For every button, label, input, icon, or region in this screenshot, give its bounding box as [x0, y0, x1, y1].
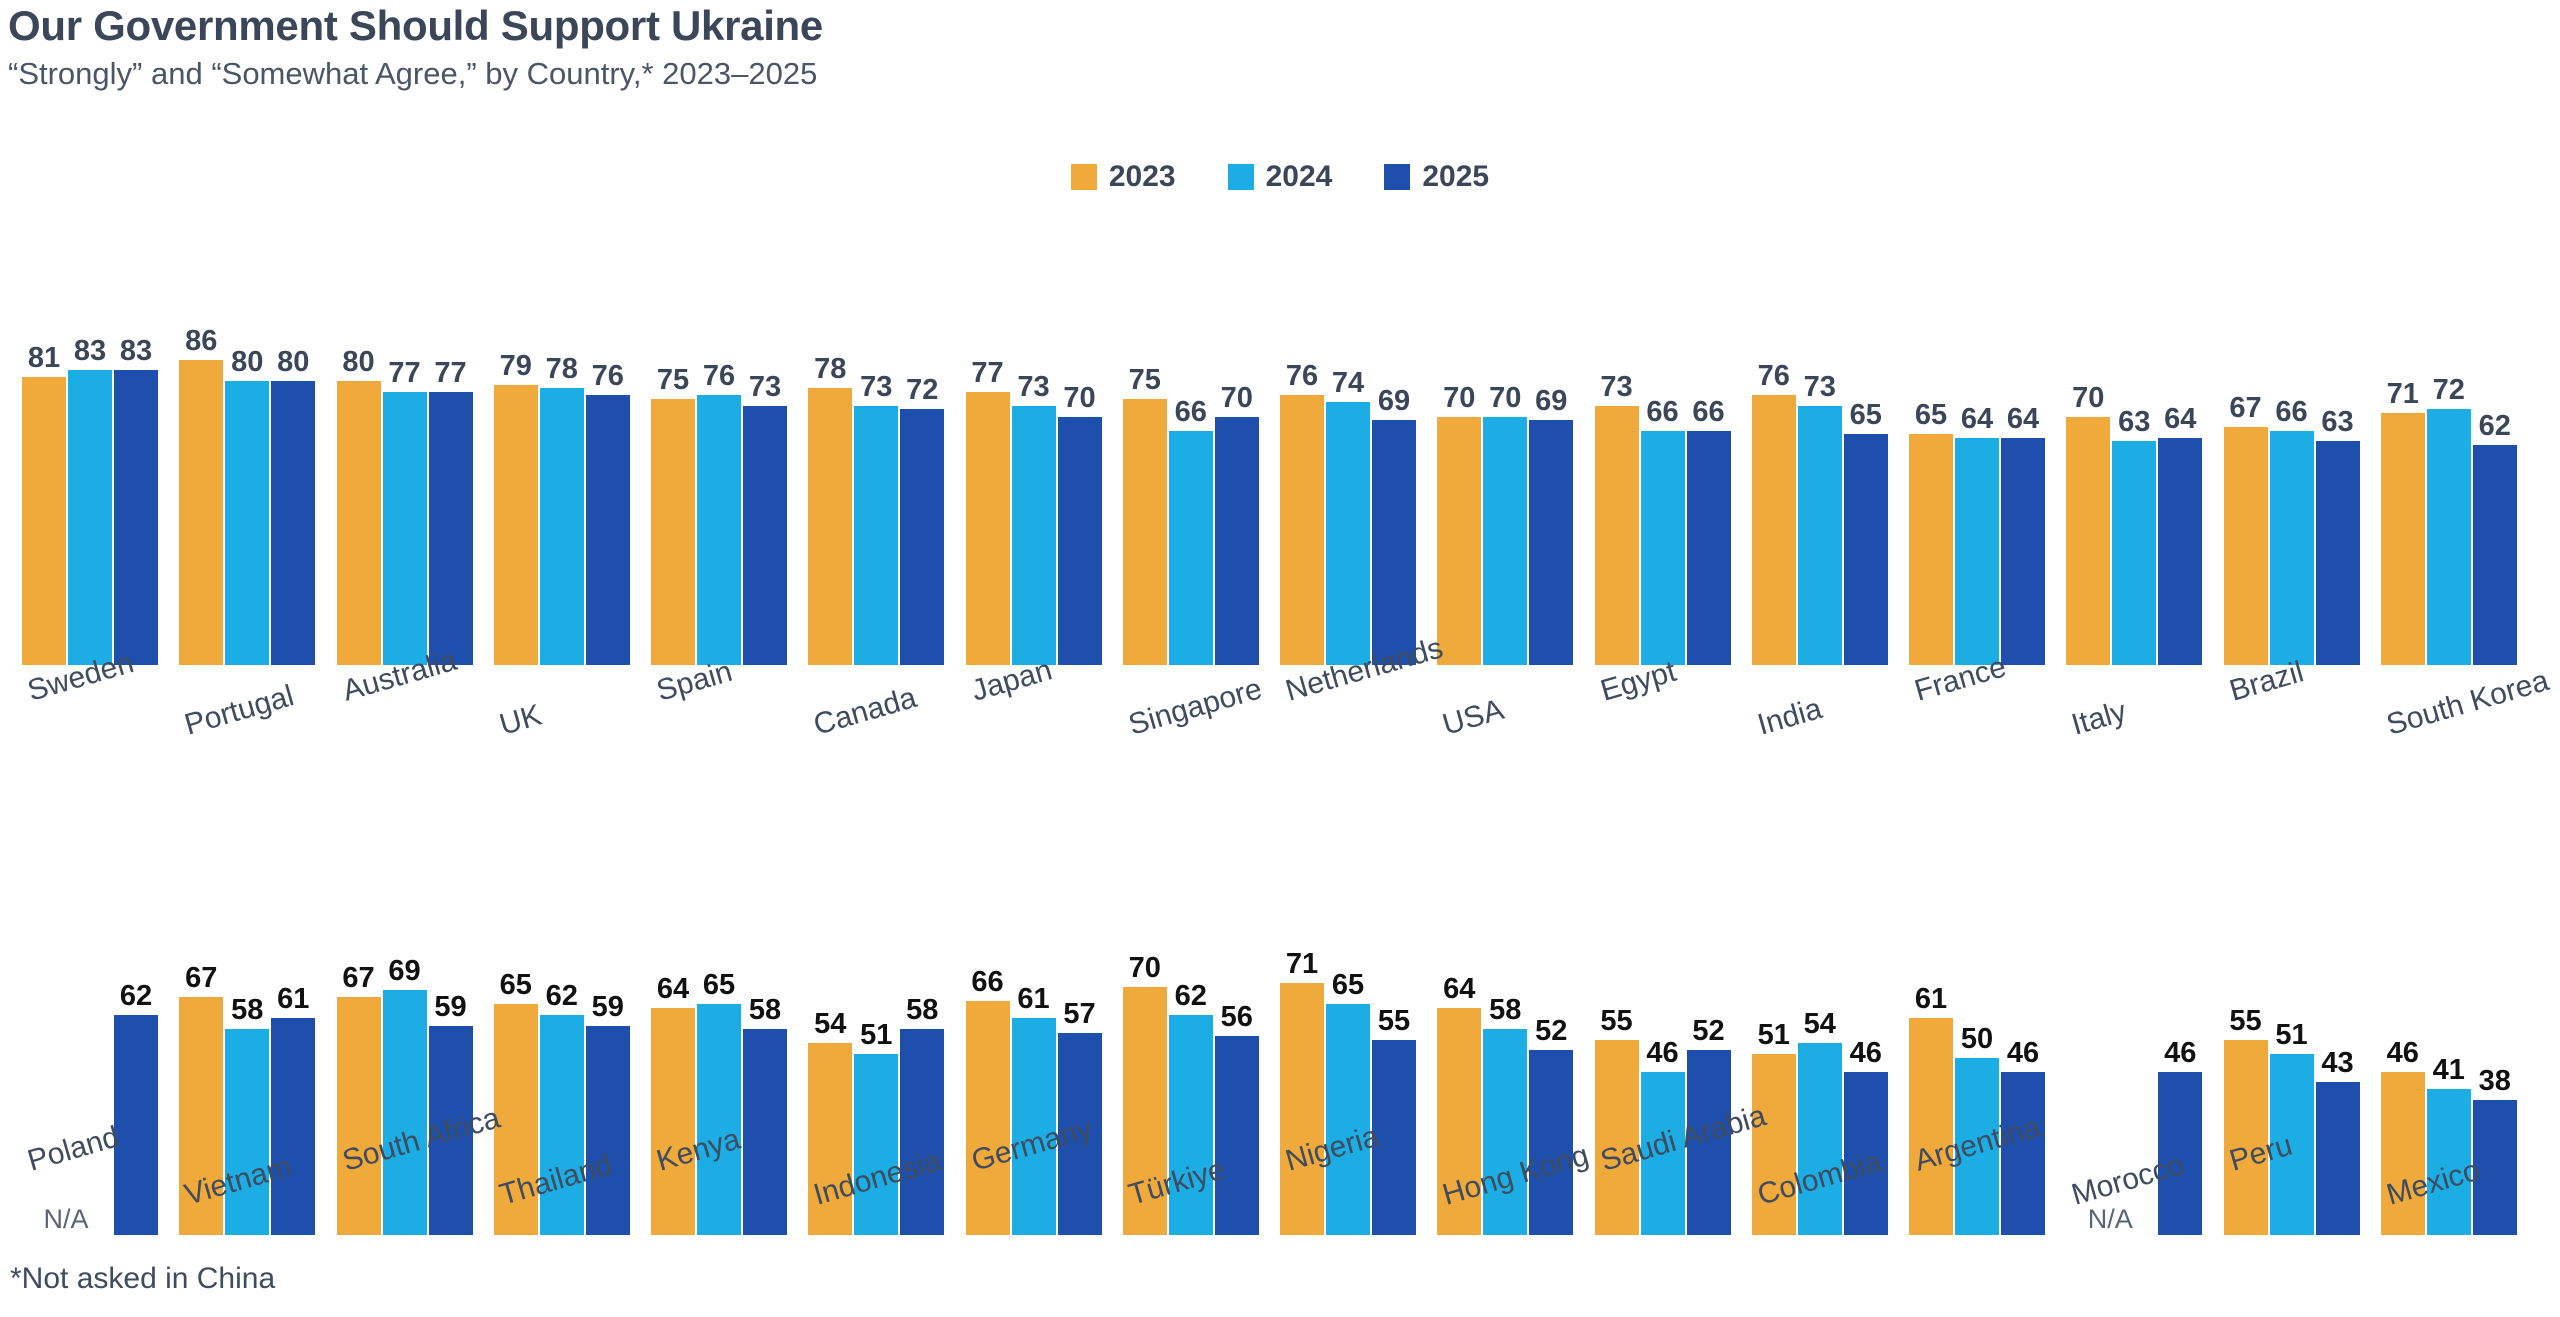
- bar-value-label: 75: [1129, 366, 1161, 399]
- bar-value-label: 77: [971, 359, 1003, 392]
- bar-group: 656464: [1909, 434, 2066, 665]
- category-label-vietnam: Vietnam: [181, 1150, 296, 1213]
- bar-group: 757673: [651, 395, 808, 665]
- bar-value-label: 38: [2479, 1067, 2511, 1100]
- bar-value-label: 46: [1850, 1039, 1882, 1072]
- bar-value-label: 80: [277, 348, 309, 381]
- category-label-cell: Portugal: [179, 676, 336, 786]
- bar-value-label: 71: [2387, 380, 2419, 413]
- bar-slot: 76: [586, 395, 630, 665]
- category-label-cell: Morocco: [2066, 1146, 2223, 1256]
- category-label-singapore: Singapore: [1125, 672, 1266, 742]
- legend-swatch-icon: [1071, 164, 1097, 190]
- bar-value-label: 64: [1961, 405, 1993, 438]
- bar-value-label: 46: [2007, 1039, 2039, 1072]
- bar-value-label: 70: [1063, 384, 1095, 417]
- legend-item-2024[interactable]: 2024: [1228, 160, 1333, 194]
- category-label-cell: Argentina: [1909, 1146, 2066, 1256]
- bar-2024[interactable]: [1798, 406, 1842, 665]
- category-label-cell: UK: [494, 676, 651, 786]
- bar-2023[interactable]: [179, 360, 223, 665]
- legend-label: 2023: [1109, 160, 1176, 194]
- chart-legend: 202320242025: [0, 160, 2560, 194]
- bar-slot: 74: [1326, 402, 1370, 665]
- bar-value-label: 67: [185, 964, 217, 997]
- bar-slot: 64: [2158, 438, 2202, 665]
- bar-2025[interactable]: [586, 395, 630, 665]
- bar-slot: 73: [854, 406, 898, 665]
- bar-slot: 73: [1595, 406, 1639, 665]
- bar-group: 807777: [337, 381, 494, 665]
- bar-slot: 76: [1280, 395, 1324, 665]
- legend-label: 2025: [1422, 160, 1489, 194]
- bar-value-label: 70: [1129, 954, 1161, 987]
- bar-2023[interactable]: [808, 388, 852, 665]
- category-label-portugal: Portugal: [181, 679, 298, 742]
- bar-slot: 81: [22, 377, 66, 665]
- category-label-cell: Saudi Arabia: [1595, 1146, 1752, 1256]
- bar-value-label: 80: [342, 348, 374, 381]
- bar-value-label: 58: [1489, 996, 1521, 1029]
- category-label-cell: Italy: [2066, 676, 2223, 786]
- category-label-cell: Spain: [651, 676, 808, 786]
- legend-item-2023[interactable]: 2023: [1071, 160, 1176, 194]
- bar-slot: 77: [966, 392, 1010, 665]
- bar-slot: 70: [1483, 417, 1527, 666]
- bar-value-label: 70: [1221, 384, 1253, 417]
- bar-value-label: 50: [1961, 1025, 1993, 1058]
- bar-value-label: 62: [1175, 982, 1207, 1015]
- bar-value-label: 74: [1332, 369, 1364, 402]
- bar-group: 787372: [808, 388, 965, 665]
- bar-value-label: 59: [592, 993, 624, 1026]
- bar-value-label: 65: [703, 971, 735, 1004]
- bar-2024[interactable]: [1169, 431, 1213, 665]
- bar-slot: 76: [697, 395, 741, 665]
- bar-2024[interactable]: [1955, 438, 1999, 665]
- bar-value-label: 76: [592, 362, 624, 395]
- bar-slot: 75: [1123, 399, 1167, 665]
- category-label-cell: Singapore: [1123, 676, 1280, 786]
- bar-value-label: 65: [1850, 401, 1882, 434]
- bar-value-label: 58: [231, 996, 263, 1029]
- bar-slot: 65: [1844, 434, 1888, 665]
- category-label-cell: Hong Kong: [1437, 1146, 1594, 1256]
- bar-slot: 83: [68, 370, 112, 665]
- bar-value-label: 61: [1017, 985, 1049, 1018]
- bar-value-label: 76: [1286, 362, 1318, 395]
- bar-slot: 80: [271, 381, 315, 665]
- bar-2025[interactable]: [1372, 420, 1416, 665]
- bar-value-label: 69: [388, 957, 420, 990]
- bar-2023[interactable]: [337, 381, 381, 665]
- bar-value-label: 77: [388, 359, 420, 392]
- bar-2025[interactable]: [1687, 431, 1731, 665]
- category-label-thailand: Thailand: [496, 1148, 616, 1212]
- category-label-cell: Sweden: [22, 676, 179, 786]
- bar-value-label: 70: [1489, 384, 1521, 417]
- bar-2025[interactable]: [2001, 438, 2045, 665]
- bar-group: 707069: [1437, 417, 1594, 666]
- bar-2024[interactable]: [2427, 409, 2471, 665]
- bar-group: 676663: [2224, 427, 2381, 665]
- bar-value-label: 66: [2275, 398, 2307, 431]
- bar-value-label: 58: [906, 996, 938, 1029]
- bar-value-label: 64: [657, 975, 689, 1008]
- bar-value-label: 70: [1443, 384, 1475, 417]
- category-label-india: India: [1754, 692, 1826, 743]
- bar-2025[interactable]: [1844, 434, 1888, 665]
- bar-2024[interactable]: [1483, 417, 1527, 666]
- bar-2024[interactable]: [225, 381, 269, 665]
- bar-slot: 75: [651, 399, 695, 665]
- bar-2023[interactable]: [494, 385, 538, 665]
- category-label-morocco: Morocco: [2068, 1148, 2188, 1212]
- category-label-cell: Nigeria: [1280, 1146, 1437, 1256]
- bar-2023[interactable]: [1437, 417, 1481, 666]
- legend-swatch-icon: [1228, 164, 1254, 190]
- bar-value-label: 56: [1221, 1003, 1253, 1036]
- bar-value-label: 57: [1063, 1000, 1095, 1033]
- bar-2025[interactable]: [2158, 438, 2202, 665]
- page-title: Our Government Should Support Ukraine: [8, 4, 2548, 48]
- bar-value-label: 52: [1692, 1017, 1724, 1050]
- category-label-cell: Netherlands: [1280, 676, 1437, 786]
- bar-value-label: 46: [2164, 1039, 2196, 1072]
- bar-group: 868080: [179, 360, 336, 665]
- bar-slot: 67: [2224, 427, 2268, 665]
- bar-2023[interactable]: [2066, 417, 2110, 666]
- category-label-t-rkiye: Türkiye: [1125, 1153, 1229, 1213]
- bar-slot: 63: [2316, 441, 2360, 665]
- bar-slot: 72: [2427, 409, 2471, 665]
- bar-slot: 78: [540, 388, 584, 665]
- bar-slot: 72: [900, 409, 944, 665]
- bar-value-label: 64: [2007, 405, 2039, 438]
- bar-2023[interactable]: [1123, 399, 1167, 665]
- bar-slot: 66: [1687, 431, 1731, 665]
- bar-2025[interactable]: [2473, 445, 2517, 665]
- bar-value-label: 65: [1332, 971, 1364, 1004]
- bar-slot: 66: [1169, 431, 1213, 665]
- bar-value-label: 55: [1600, 1007, 1632, 1040]
- bar-group: 777370: [966, 392, 1123, 665]
- bar-value-label: 55: [2229, 1007, 2261, 1040]
- bar-value-label: 66: [971, 968, 1003, 1001]
- category-label-indonesia: Indonesia: [810, 1144, 944, 1213]
- bar-2025[interactable]: [1529, 420, 1573, 665]
- bar-slot: 73: [1798, 406, 1842, 665]
- bar-slot: 77: [429, 392, 473, 665]
- bar-2024[interactable]: [2112, 441, 2156, 665]
- bar-value-label: 69: [1378, 387, 1410, 420]
- bar-value-label: 59: [434, 993, 466, 1026]
- bar-group: 797876: [494, 385, 651, 665]
- category-label-cell: USA: [1437, 676, 1594, 786]
- category-label-cell: South Africa: [337, 1146, 494, 1256]
- bar-slot: 70: [2066, 417, 2110, 666]
- category-label-cell: Germany: [966, 1146, 1123, 1256]
- bar-value-label: 41: [2433, 1056, 2465, 1089]
- bar-2023[interactable]: [2224, 427, 2268, 665]
- bar-value-label: 66: [1646, 398, 1678, 431]
- bar-slot: 76: [1752, 395, 1796, 665]
- bar-value-label: 64: [2164, 405, 2196, 438]
- bar-slot: 62: [2473, 445, 2517, 665]
- bar-2024[interactable]: [854, 406, 898, 665]
- category-label-cell: Colombia: [1752, 1146, 1909, 1256]
- bar-value-label: 65: [1915, 401, 1947, 434]
- category-label-cell: India: [1752, 676, 1909, 786]
- bar-2025[interactable]: [1215, 417, 1259, 666]
- bar-slot: 78: [808, 388, 852, 665]
- bar-value-label: 77: [434, 359, 466, 392]
- bar-value-label: 51: [1758, 1021, 1790, 1054]
- bar-slot: 80: [337, 381, 381, 665]
- chart-header: Our Government Should Support Ukraine “S…: [8, 4, 2548, 92]
- bar-slot: 77: [383, 392, 427, 665]
- bar-value-label: 70: [2072, 384, 2104, 417]
- chart-footnote: *Not asked in China: [10, 1262, 275, 1296]
- bar-value-label: 80: [231, 348, 263, 381]
- bar-2024[interactable]: [697, 395, 741, 665]
- chart-subtitle: “Strongly” and “Somewhat Agree,” by Coun…: [8, 56, 2548, 92]
- bar-group: 736666: [1595, 406, 1752, 665]
- bar-value-label: 73: [1017, 373, 1049, 406]
- bar-2024[interactable]: [1326, 402, 1370, 665]
- bar-value-label: 62: [120, 982, 152, 1015]
- bar-value-label: 73: [1600, 373, 1632, 406]
- category-label-italy: Italy: [2068, 695, 2130, 743]
- category-label-cell: Mexico: [2381, 1146, 2538, 1256]
- bar-value-label: 46: [2387, 1039, 2419, 1072]
- bar-slot: 70: [1215, 417, 1259, 666]
- bar-value-label: 72: [906, 376, 938, 409]
- bar-2024[interactable]: [383, 392, 427, 665]
- category-label-canada: Canada: [810, 681, 920, 743]
- category-label-cell: South Korea: [2381, 676, 2538, 786]
- bar-value-label: 73: [1804, 373, 1836, 406]
- bar-slot: 70: [1437, 417, 1481, 666]
- bar-value-label: 55: [1378, 1007, 1410, 1040]
- bar-slot: 86: [179, 360, 223, 665]
- bar-value-label: 63: [2118, 408, 2150, 441]
- bar-2025[interactable]: [900, 409, 944, 665]
- bar-2025[interactable]: [2316, 441, 2360, 665]
- category-labels-row-2: PolandVietnamSouth AfricaThailandKenyaIn…: [0, 1146, 2560, 1256]
- bar-group: 767469: [1280, 395, 1437, 665]
- bar-2023[interactable]: [651, 399, 695, 665]
- bar-slot: 70: [1058, 417, 1102, 666]
- bar-slot: 69: [1372, 420, 1416, 665]
- bar-slot: 69: [1529, 420, 1573, 665]
- bar-group: 818383: [22, 370, 179, 665]
- bar-value-label: 78: [546, 355, 578, 388]
- bar-value-label: 69: [1535, 387, 1567, 420]
- bar-value-label: 72: [2433, 376, 2465, 409]
- bar-2025[interactable]: [429, 392, 473, 665]
- legend-label: 2024: [1266, 160, 1333, 194]
- bar-group: 767365: [1752, 395, 1909, 665]
- category-label-colombia: Colombia: [1754, 1145, 1885, 1213]
- bar-value-label: 76: [1758, 362, 1790, 395]
- bar-value-label: 81: [28, 344, 60, 377]
- bar-slot: 71: [2381, 413, 2425, 665]
- bar-slot: 73: [743, 406, 787, 665]
- bar-value-label: 43: [2321, 1049, 2353, 1082]
- bar-value-label: 71: [1286, 950, 1318, 983]
- category-label-cell: Vietnam: [179, 1146, 336, 1256]
- bar-2025[interactable]: [114, 370, 158, 665]
- category-label-cell: Poland: [22, 1146, 179, 1256]
- category-label-cell: Peru: [2224, 1146, 2381, 1256]
- bar-2024[interactable]: [540, 388, 584, 665]
- bar-value-label: 75: [657, 366, 689, 399]
- bar-slot: 83: [114, 370, 158, 665]
- category-label-cell: Indonesia: [808, 1146, 965, 1256]
- category-label-cell: Australia: [337, 676, 494, 786]
- bar-group-container-row-1: 8183838680808077777978767576737873727773…: [0, 360, 2560, 665]
- bar-2023[interactable]: [2381, 413, 2425, 665]
- bar-2023[interactable]: [1909, 434, 1953, 665]
- bar-value-label: 86: [185, 327, 217, 360]
- category-label-uk: UK: [496, 699, 545, 743]
- category-label-mexico: Mexico: [2383, 1154, 2484, 1213]
- bar-group: 706364: [2066, 417, 2223, 666]
- bar-2024[interactable]: [2270, 431, 2314, 665]
- bar-2023[interactable]: [22, 377, 66, 665]
- bar-value-label: 78: [814, 355, 846, 388]
- bar-slot: 80: [225, 381, 269, 665]
- bar-value-label: 62: [2479, 412, 2511, 445]
- category-label-cell: Brazil: [2224, 676, 2381, 786]
- bar-value-label: 73: [860, 373, 892, 406]
- category-label-cell: Thailand: [494, 1146, 651, 1256]
- category-label-cell: Canada: [808, 676, 965, 786]
- bar-value-label: 83: [120, 337, 152, 370]
- bar-value-label: 67: [2229, 394, 2261, 427]
- category-label-south-korea: South Korea: [2383, 664, 2553, 743]
- bar-value-label: 76: [703, 362, 735, 395]
- bar-slot: 64: [1955, 438, 1999, 665]
- bar-group: 717262: [2381, 409, 2538, 665]
- bar-slot: 79: [494, 385, 538, 665]
- bar-2023[interactable]: [1280, 395, 1324, 665]
- category-label-cell: Kenya: [651, 1146, 808, 1256]
- bar-group: 756670: [1123, 399, 1280, 665]
- bar-value-label: 73: [749, 373, 781, 406]
- category-label-hong-kong: Hong Kong: [1439, 1139, 1593, 1213]
- category-label-cell: Egypt: [1595, 676, 1752, 786]
- bar-2023[interactable]: [1595, 406, 1639, 665]
- bar-value-label: 63: [2321, 408, 2353, 441]
- category-label-cell: Japan: [966, 676, 1123, 786]
- bar-value-label: 66: [1175, 398, 1207, 431]
- bar-value-label: 66: [1692, 398, 1724, 431]
- bar-value-label: 83: [74, 337, 106, 370]
- category-label-cell: France: [1909, 676, 2066, 786]
- bar-value-label: 51: [2275, 1021, 2307, 1054]
- category-label-usa: USA: [1439, 693, 1508, 743]
- bar-value-label: 58: [749, 996, 781, 1029]
- bar-value-label: 67: [342, 964, 374, 997]
- bar-slot: 73: [1012, 406, 1056, 665]
- bar-2023[interactable]: [966, 392, 1010, 665]
- bar-2025[interactable]: [1058, 417, 1102, 666]
- bar-slot: 66: [1641, 431, 1685, 665]
- bar-2023[interactable]: [1752, 395, 1796, 665]
- bar-value-label: 52: [1535, 1017, 1567, 1050]
- legend-swatch-icon: [1384, 164, 1410, 190]
- bar-value-label: 61: [277, 985, 309, 1018]
- chart-row-1: 8183838680808077777978767576737873727773…: [0, 205, 2560, 665]
- bar-2024[interactable]: [1641, 431, 1685, 665]
- legend-item-2025[interactable]: 2025: [1384, 160, 1489, 194]
- category-label-cell: Türkiye: [1123, 1146, 1280, 1256]
- bar-value-label: 51: [860, 1021, 892, 1054]
- bar-value-label: 54: [1804, 1010, 1836, 1043]
- bar-value-label: 61: [1915, 985, 1947, 1018]
- bar-value-label: 46: [1646, 1039, 1678, 1072]
- bar-slot: 63: [2112, 441, 2156, 665]
- bar-value-label: 54: [814, 1010, 846, 1043]
- bar-slot: 65: [1909, 434, 1953, 665]
- bar-value-label: 79: [500, 352, 532, 385]
- bar-2024[interactable]: [68, 370, 112, 665]
- bar-value-label: 62: [546, 982, 578, 1015]
- bar-2024[interactable]: [1012, 406, 1056, 665]
- bar-value-label: 65: [500, 971, 532, 1004]
- bar-value-label: 64: [1443, 975, 1475, 1008]
- bar-slot: 66: [2270, 431, 2314, 665]
- bar-2025[interactable]: [743, 406, 787, 665]
- bar-2025[interactable]: [271, 381, 315, 665]
- bar-slot: 64: [2001, 438, 2045, 665]
- category-labels-row-1: SwedenPortugalAustraliaUKSpainCanadaJapa…: [0, 676, 2560, 786]
